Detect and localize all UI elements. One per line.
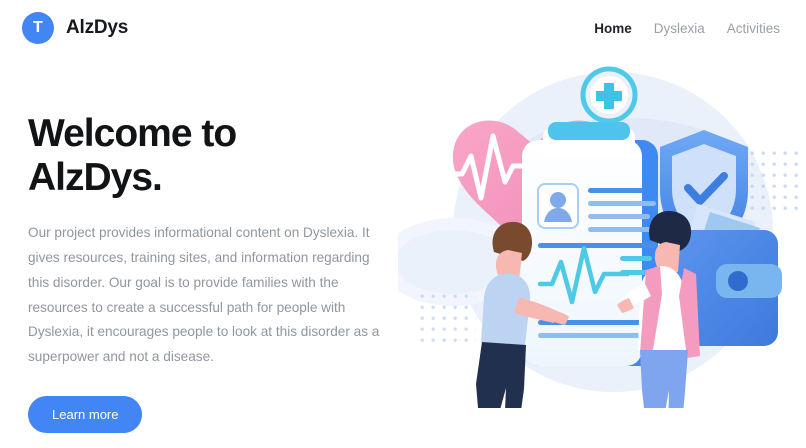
main-nav: Home Dyslexia Activities: [594, 21, 780, 36]
nav-link-home[interactable]: Home: [594, 21, 632, 36]
brand-logo[interactable]: T AlzDys: [22, 12, 128, 44]
nav-link-activities[interactable]: Activities: [727, 21, 780, 36]
site-header: T AlzDys Home Dyslexia Activities: [0, 0, 806, 56]
learn-more-button[interactable]: Learn more: [28, 396, 142, 433]
page-title: Welcome to AlzDys.: [28, 112, 400, 199]
hero-copy: Welcome to AlzDys. Our project provides …: [28, 112, 400, 433]
avatar-photo: [538, 184, 578, 228]
healthcare-hero-illustration: [398, 52, 806, 408]
nav-link-dyslexia[interactable]: Dyslexia: [654, 21, 705, 36]
hero-description: Our project provides informational conte…: [28, 221, 388, 369]
brand-name: AlzDys: [66, 17, 128, 39]
dot-grid-pattern: [414, 290, 476, 348]
brand-mark-icon: T: [22, 12, 54, 44]
medical-cross-icon: [583, 69, 635, 121]
